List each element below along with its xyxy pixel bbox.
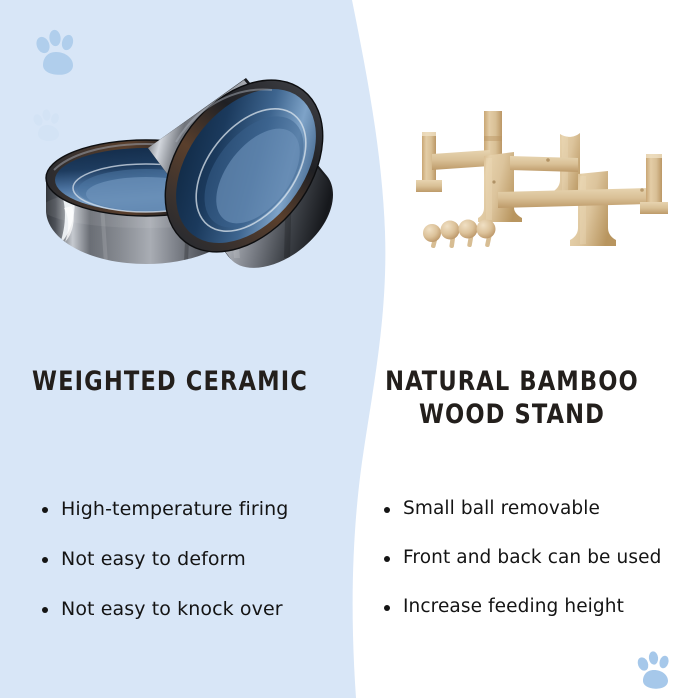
removable-wooden-balls <box>423 220 496 249</box>
wooden-ball-peg <box>441 221 460 249</box>
list-item: Small ball removable <box>382 498 679 519</box>
bamboo-wood-stand-photo <box>402 108 674 278</box>
list-item: Increase feeding height <box>382 596 679 617</box>
stand-rail-upper-right <box>510 156 578 172</box>
right-panel-headline: NATURAL BAMBOO WOOD STAND <box>357 366 668 432</box>
infographic-canvas: WEIGHTED CERAMIC NATURAL BAMBOO WOOD STA… <box>0 0 679 698</box>
left-panel-feature-list: High-temperature firing Not easy to defo… <box>40 498 350 648</box>
right-panel-headline-line2: WOOD STAND <box>357 399 668 432</box>
list-item: High-temperature firing <box>40 498 350 520</box>
stand-rail-lower <box>498 188 648 208</box>
wooden-ball-peg <box>423 224 441 248</box>
ceramic-bowls-photo <box>38 58 358 293</box>
left-panel-headline: WEIGHTED CERAMIC <box>12 366 328 399</box>
wooden-ball-peg <box>477 220 496 248</box>
right-panel-headline-line1: NATURAL BAMBOO <box>357 366 668 399</box>
list-item: Front and back can be used <box>382 547 679 568</box>
paw-print-icon <box>634 650 674 692</box>
list-item: Not easy to knock over <box>40 598 350 620</box>
stand-rail-upper-left <box>432 150 490 170</box>
wooden-ball-peg <box>459 220 478 248</box>
right-panel-feature-list: Small ball removable Front and back can … <box>382 498 679 645</box>
list-item: Not easy to deform <box>40 548 350 570</box>
stand-post-right-outer <box>640 154 668 214</box>
